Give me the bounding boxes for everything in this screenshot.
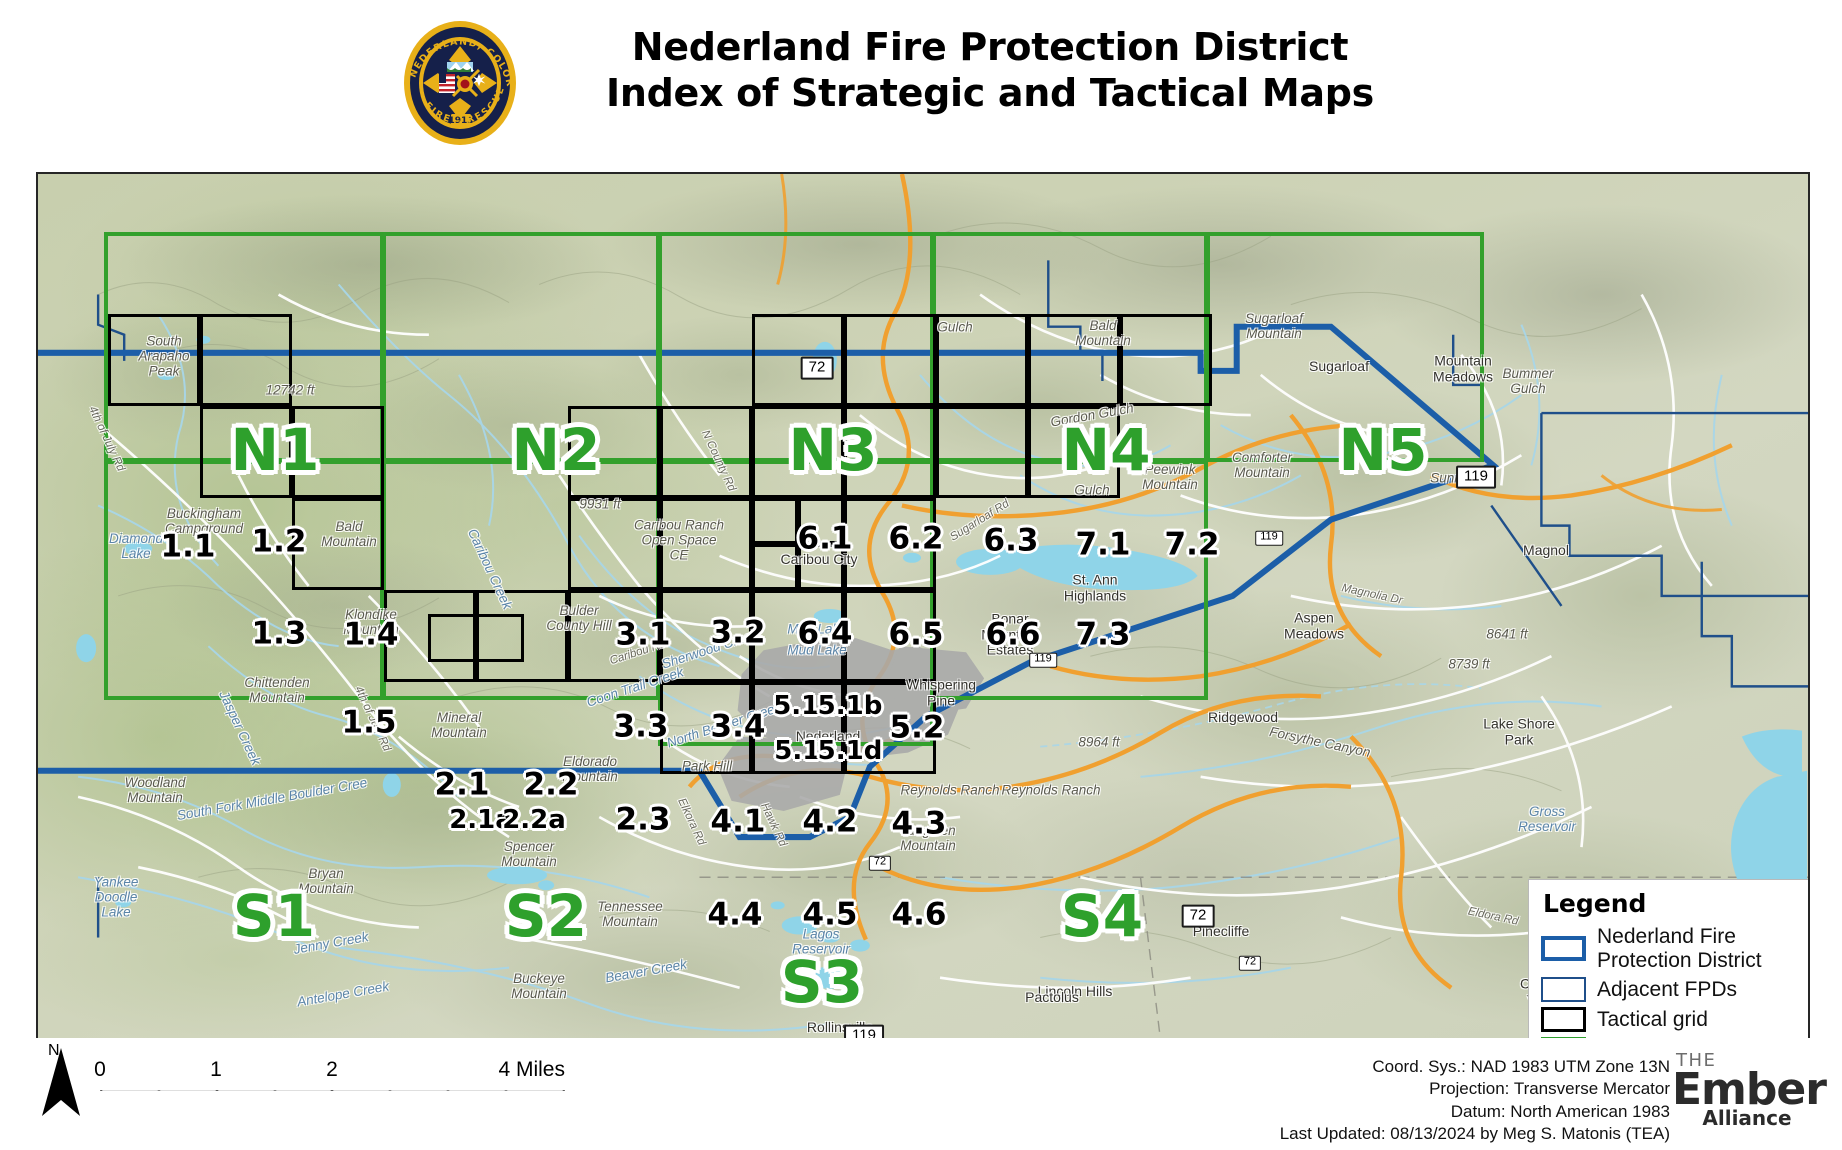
legend-item-nfpd-label: Nederland Fire Protection District [1597,925,1798,972]
highway-shield-72: 72 [1239,956,1261,971]
tactical-cell-label-3-2[interactable]: 3.2 [711,618,766,649]
place-label-mountain: Mountain Meadows [1433,353,1493,384]
tactical-cell-label-4-5[interactable]: 4.5 [803,900,858,931]
place-label-yankee: Yankee Doodle Lake [94,874,139,919]
place-label-sugarloaf: Sugarloaf Mountain [1245,311,1303,341]
strategic-cell-label-n4[interactable]: N4 [1062,421,1151,479]
nfpd-outline-swatch [1541,936,1586,961]
place-label-diamond: Diamond Lake [109,531,163,561]
highway-shield-72: 72 [869,856,891,871]
tactical-cell-label-4-3[interactable]: 4.3 [892,809,947,840]
place-label-chittenden: Chittenden Mountain [244,675,309,705]
place-label-reynolds-ranch: Reynolds Ranch [900,782,999,797]
place-label-buckeye: Buckeye Mountain [511,971,567,1001]
credits-line-3: Datum: North American 1983 [1280,1101,1670,1123]
tactical-grid-outline-swatch [1541,1007,1586,1032]
tactical-cell-label-1-3[interactable]: 1.3 [252,619,307,650]
legend-item-adjacent-fpds-label: Adjacent FPDs [1597,978,1737,1002]
place-label-magnol: Magnol [1523,543,1569,559]
place-label-tennessee: Tennessee Mountain [597,899,663,929]
legend-title: Legend [1543,889,1798,918]
place-label-peewink: Peewink Mountain [1142,462,1198,492]
tactical-cell-label-7-3[interactable]: 7.3 [1076,620,1131,651]
credits-line-4: Last Updated: 08/13/2024 by Meg S. Maton… [1280,1123,1670,1145]
highway-shield-119: 119 [1456,466,1496,489]
strategic-cell-label-n3[interactable]: N3 [789,421,878,479]
place-label-bulder: Bulder County Hill [546,603,611,633]
place-label-aspen: Aspen Meadows [1284,610,1344,641]
ember-logo-name: Ember [1672,1070,1822,1110]
place-label-9931-ft: 9931 ft [579,496,620,511]
place-label-whispering: Whispering Pine [906,677,976,708]
scale-bar-ticks [100,1090,565,1091]
place-label-8964-ft: 8964 ft [1078,734,1119,749]
place-label-caribou-ranch: Caribou Ranch Open Space CE [634,517,724,562]
place-label-comforter: Comforter Mountain [1232,450,1292,480]
tactical-cell-label-4-1[interactable]: 4.1 [711,807,766,838]
tactical-cell-label-5-2[interactable]: 5.2 [890,713,945,744]
tactical-cell-label-1-5[interactable]: 1.5 [342,708,397,739]
nederland-fire-rescue-badge: 1913 NEDERLAND, COLORADO FIRE - RESCUE [395,18,525,148]
map-frame[interactable]: South Arapaho Peak12742 ft4th of July Rd… [36,172,1810,1042]
tactical-cell-label-4-2[interactable]: 4.2 [803,807,858,838]
title-line-2: Index of Strategic and Tactical Maps [540,70,1440,116]
tactical-cell-label-3-4[interactable]: 3.4 [711,712,766,743]
tactical-cell-label-1-4[interactable]: 1.4 [344,620,399,651]
place-label-bald: Bald Mountain [1075,318,1131,348]
scale-tick-label-2: 2 [326,1058,338,1082]
place-label-reynolds-ranch: Reynolds Ranch [1001,782,1100,797]
page-header: 1913 NEDERLAND, COLORADO FIRE - RESCUE N… [0,0,1842,168]
highway-shield-72: 72 [801,357,834,380]
tactical-cell-label-6-5[interactable]: 6.5 [889,620,944,651]
legend-item-tactical-grid: Tactical grid [1541,1007,1798,1032]
place-label-lake-shore: Lake Shore Park [1483,716,1555,747]
place-label-12742-ft: 12742 ft [266,382,315,397]
strategic-cell-label-s1[interactable]: S1 [233,887,315,945]
tactical-cell-label-7-2[interactable]: 7.2 [1165,530,1220,561]
adjacent-fpd-outline-swatch [1541,977,1586,1002]
strategic-cell-label-n1[interactable]: N1 [231,421,320,479]
highway-shield-119: 119 [1255,531,1283,546]
place-label-spencer: Spencer Mountain [501,839,557,869]
place-label-mineral: Mineral Mountain [431,710,487,740]
page-title: Nederland Fire Protection District Index… [540,24,1440,117]
tactical-cell-label-7-1[interactable]: 7.1 [1076,530,1131,561]
place-label-ridgewood: Ridgewood [1208,710,1278,726]
credits-line-1: Coord. Sys.: NAD 1983 UTM Zone 13N [1280,1056,1670,1078]
tactical-cell-label-6-6[interactable]: 6.6 [986,620,1041,651]
scale-bar: 0 1 2 4 Miles [100,1058,565,1118]
place-label-gulch: Gulch [937,319,972,334]
tactical-cell-label-6-2[interactable]: 6.2 [889,524,944,555]
tactical-cell-label-6-1[interactable]: 6.1 [798,524,853,555]
ember-alliance-logo: THE Ember Alliance [1672,1052,1822,1128]
place-label-gulch: Gulch [1074,482,1109,497]
tactical-cell-label-1-1[interactable]: 1.1 [161,532,216,563]
tactical-cell-label-6-4[interactable]: 6.4 [798,619,853,650]
place-label-sugarloaf: Sugarloaf [1309,359,1369,375]
place-label-woodland: Woodland Mountain [125,775,186,805]
north-arrow-icon [38,1046,84,1118]
place-label-pactolus: Pactolus [1025,990,1079,1006]
legend-item-tactical-grid-label: Tactical grid [1597,1008,1708,1032]
tactical-cell-label-3-3[interactable]: 3.3 [614,712,669,743]
scale-tick-label-1: 1 [210,1058,222,1082]
scale-tick-label-4-miles: 4 Miles [498,1058,565,1082]
place-label-bald: Bald Mountain [321,519,377,549]
tactical-cell-label-2-3[interactable]: 2.3 [616,805,671,836]
highway-shield-119: 119 [1029,653,1057,668]
tactical-cell-label-2-1[interactable]: 2.1 [435,770,490,801]
place-label-south: South Arapaho Peak [138,333,189,378]
tactical-cell-label-6-3[interactable]: 6.3 [984,526,1039,557]
tactical-cell-label-5-1b[interactable]: 5.1b [818,693,883,719]
tactical-cell-label-2-2a[interactable]: 2.2a [502,807,566,833]
tactical-cell-label-1-2[interactable]: 1.2 [252,527,307,558]
place-label-8641-ft: 8641 ft [1486,626,1527,641]
place-label-8739-ft: 8739 ft [1448,656,1489,671]
legend-item-adjacent-fpds: Adjacent FPDs [1541,977,1798,1002]
legend: Legend Nederland Fire Protection Distric… [1528,879,1810,1042]
credits-line-2: Projection: Transverse Mercator [1280,1078,1670,1100]
place-label-st-ann: St. Ann Highlands [1064,572,1126,603]
strategic-cell-label-s4[interactable]: S4 [1061,887,1143,945]
strategic-cell-label-s2[interactable]: S2 [505,887,587,945]
strategic-cell-label-n2[interactable]: N2 [512,421,601,479]
place-label-park-hill: Park Hill [682,758,732,773]
legend-item-nfpd: Nederland Fire Protection District [1541,925,1798,972]
tactical-cell-label-4-6[interactable]: 4.6 [892,900,947,931]
strategic-cell-label-s3[interactable]: S3 [781,953,863,1011]
highway-shield-72: 72 [1182,905,1215,928]
tactical-cell-label-3-1[interactable]: 3.1 [616,620,671,651]
title-line-1: Nederland Fire Protection District [540,24,1440,70]
place-label-bummer: Bummer Gulch [1502,366,1553,396]
tactical-cell-label-5-1d[interactable]: 5.1d [818,738,883,764]
place-label-gross: Gross Reservoir [1518,804,1576,834]
scale-tick-label-0: 0 [94,1058,106,1082]
tactical-cell-label-2-2[interactable]: 2.2 [524,770,579,801]
tactical-cell-label-4-4[interactable]: 4.4 [708,900,763,931]
map-credits: Coord. Sys.: NAD 1983 UTM Zone 13N Proje… [1280,1056,1670,1146]
strategic-cell-label-n5[interactable]: N5 [1339,421,1428,479]
